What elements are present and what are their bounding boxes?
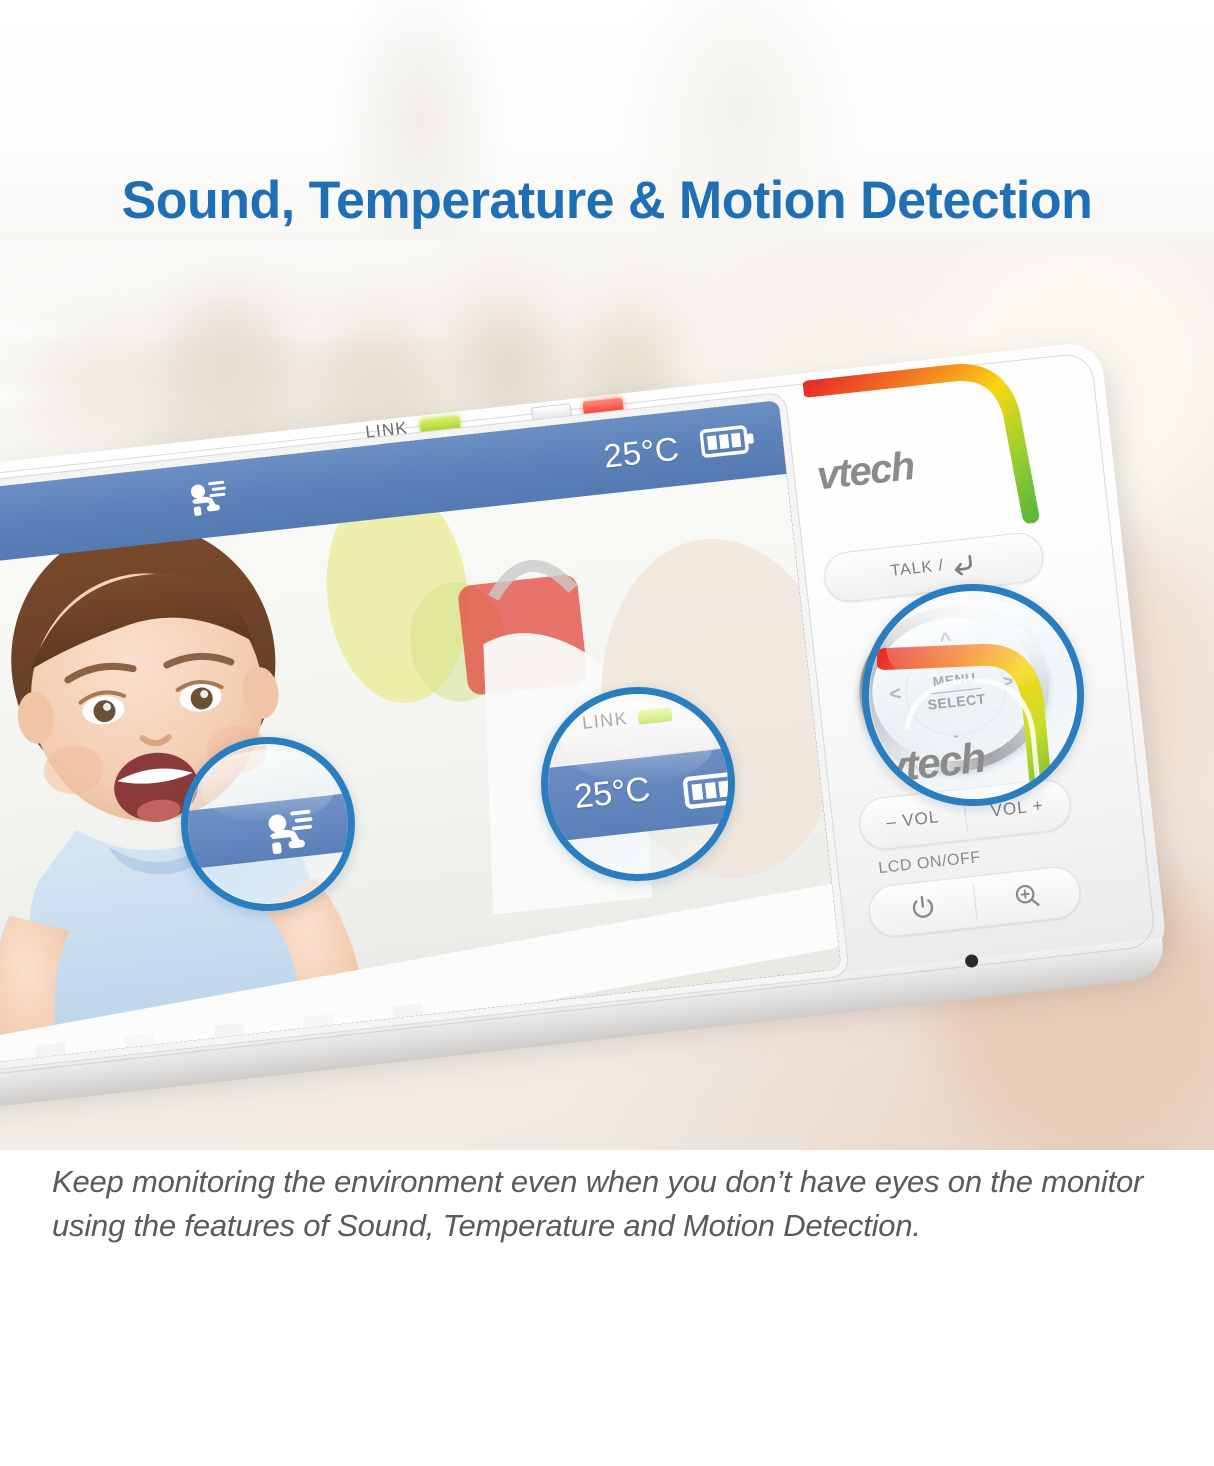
sound-level-magnifier: vtech [862,584,1084,806]
talk-button-label: TALK / [890,557,945,581]
wall-clock [470,330,550,410]
page-title: Sound, Temperature & Motion Detection [12,170,1202,231]
magnifier-plus-icon [1011,881,1042,912]
sound-magnifier-content: vtech [869,591,1077,799]
return-arrow-icon [950,552,978,577]
link-led-green [419,415,460,434]
temperature-magnifier: LINK 25°C [541,687,735,881]
motion-magnifier-content [188,744,348,904]
temperature-readout: 25°C [602,430,681,476]
product-photo: LINK [0,240,1214,1150]
decor-blob [40,328,170,448]
caption-text: Keep monitoring the environment even whe… [52,1160,1162,1248]
temperature-magnifier-content: LINK 25°C [548,694,728,874]
power-button[interactable] [868,877,978,938]
magnified-battery-icon [682,769,735,817]
status-led-white [530,403,571,422]
zoom-button[interactable] [972,865,1082,926]
crawling-baby-motion-icon [262,808,320,861]
vtech-logo: vtech [815,444,916,499]
power-icon [908,893,937,922]
link-led-green [637,707,672,725]
link-label: LINK [364,418,409,443]
lcd-onoff-label: LCD ON/OFF [878,849,982,878]
alert-led-red [582,397,623,416]
battery-icon [699,422,757,465]
motion-detection-magnifier [181,737,355,911]
crawling-baby-motion-icon [184,476,234,524]
